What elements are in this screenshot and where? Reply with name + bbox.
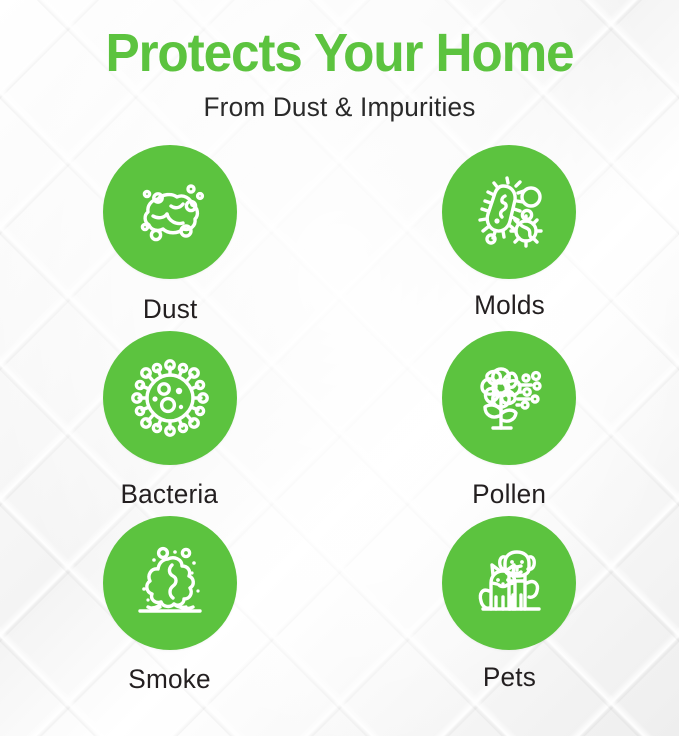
smoke-plume-icon <box>130 543 210 623</box>
feature-label-bacteria: Bacteria <box>121 479 219 510</box>
feature-label-pollen: Pollen <box>472 479 546 510</box>
feature-label-smoke: Smoke <box>128 664 210 695</box>
feature-grid: Dust <box>0 145 679 695</box>
header: Protects Your Home From Dust & Impuritie… <box>0 0 679 123</box>
dust-cloud-icon <box>131 173 209 251</box>
dust-badge <box>103 145 237 279</box>
feature-label-dust: Dust <box>142 294 197 325</box>
page-subtitle: From Dust & Impurities <box>10 92 669 123</box>
feature-label-pets: Pets <box>483 662 536 693</box>
pets-badge <box>442 516 576 650</box>
feature-item-bacteria[interactable]: Bacteria <box>0 331 340 510</box>
smoke-badge <box>103 516 237 650</box>
pets-dog-cat-icon <box>469 543 549 623</box>
pollen-badge <box>442 331 576 465</box>
feature-item-pollen[interactable]: Pollen <box>340 331 679 510</box>
feature-label-molds: Molds <box>474 290 545 321</box>
pollen-flower-icon <box>469 358 549 438</box>
page-title: Protects Your Home <box>17 26 662 80</box>
feature-item-smoke[interactable]: Smoke <box>0 516 340 695</box>
bacteria-badge <box>103 331 237 465</box>
bacteria-virus-icon <box>130 358 210 438</box>
feature-item-pets[interactable]: Pets <box>340 516 679 695</box>
mold-spores-icon <box>470 173 548 251</box>
feature-item-molds[interactable]: Molds <box>340 145 679 325</box>
feature-item-dust[interactable]: Dust <box>0 145 340 325</box>
molds-badge <box>442 145 576 279</box>
